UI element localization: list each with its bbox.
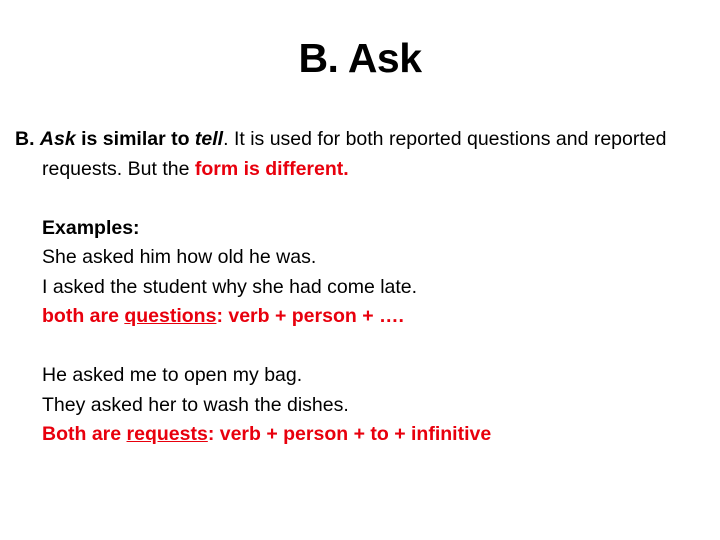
spacer-line-2	[42, 332, 697, 362]
examples-heading: Examples:	[42, 214, 697, 244]
rule-requests: Both are requests: verb + person + to + …	[42, 420, 697, 450]
paragraph-marker: B.	[15, 128, 35, 150]
slide-canvas: B. Ask B. Ask is similar to tell. It is …	[0, 0, 720, 540]
example-sentence-requests-1: He asked me to open my bag.	[42, 361, 697, 391]
rule-questions: both are questions: verb + person + ….	[42, 302, 697, 332]
slide-body: B. Ask is similar to tell. It is used fo…	[42, 125, 697, 450]
example-sentence-questions-1: She asked him how old he was.	[42, 243, 697, 273]
page-title: B. Ask	[0, 34, 720, 82]
term-ask: Ask	[40, 128, 76, 150]
rule-questions-suffix: : verb + person + ….	[216, 305, 403, 327]
paragraph-mid-text: is similar to	[76, 128, 195, 150]
rule-requests-keyword: requests	[127, 423, 208, 445]
rule-questions-keyword: questions	[124, 305, 216, 327]
rule-questions-prefix: both are	[42, 305, 124, 327]
example-sentence-questions-2: I asked the student why she had come lat…	[42, 273, 697, 303]
rule-requests-suffix: : verb + person + to + infinitive	[208, 423, 491, 445]
highlight-form-is-different: form is different.	[195, 158, 349, 180]
spacer-line-1	[42, 184, 697, 214]
example-sentence-requests-2: They asked her to wash the dishes.	[42, 391, 697, 421]
term-tell: tell	[195, 128, 223, 150]
rule-requests-prefix: Both are	[42, 423, 127, 445]
paragraph-definition: B. Ask is similar to tell. It is used fo…	[15, 125, 690, 184]
